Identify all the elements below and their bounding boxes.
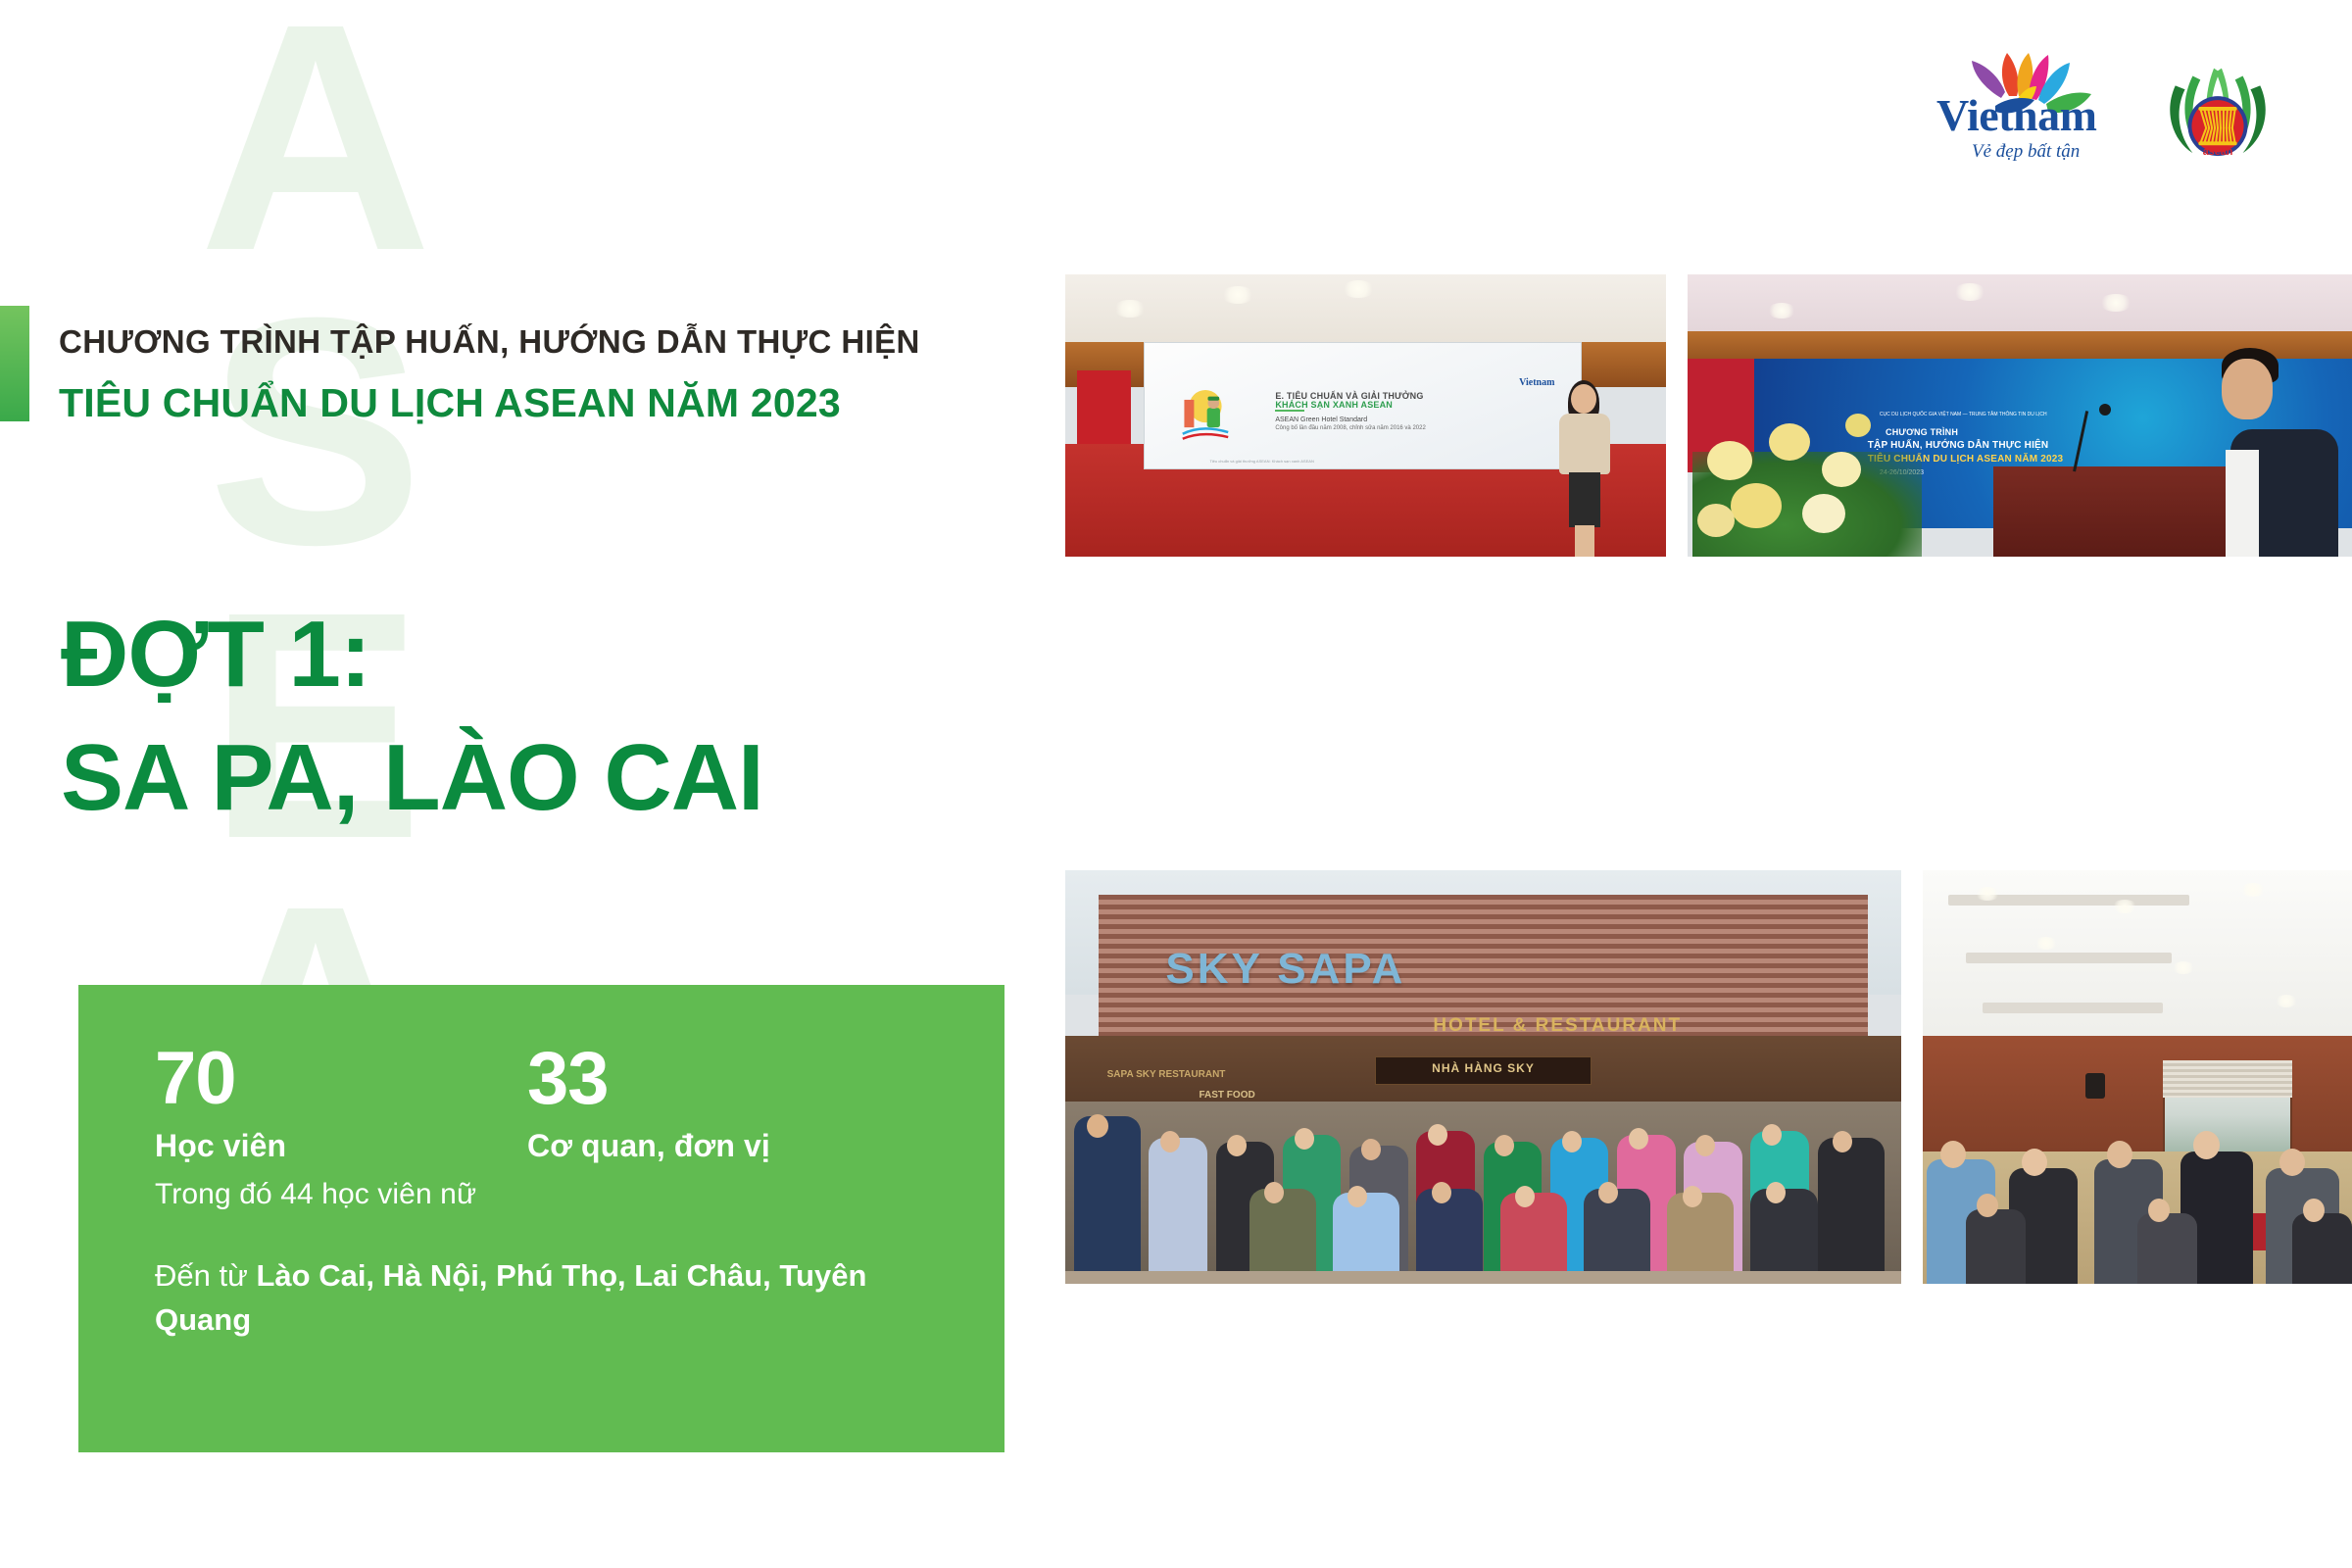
ceiling-vent bbox=[1966, 953, 2172, 963]
stat-organizations-number: 33 bbox=[527, 1044, 772, 1114]
ceiling-vent bbox=[1983, 1003, 2163, 1013]
female-presenter bbox=[1557, 384, 1618, 548]
person-head bbox=[1515, 1186, 1535, 1207]
window-sign-fastfood: FAST FOOD bbox=[1199, 1090, 1254, 1101]
ceiling-light bbox=[1113, 300, 1147, 318]
ceiling-light bbox=[1767, 303, 1796, 318]
person-head bbox=[1562, 1131, 1582, 1152]
ceiling-light bbox=[2240, 883, 2266, 897]
restaurant-plaque-text: NHÀ HÀNG SKY bbox=[1376, 1057, 1592, 1080]
attendee-head bbox=[2148, 1199, 2170, 1222]
stat-origin-places: Lào Cai, Hà Nội, Phú Thọ, Lai Châu, Tuyê… bbox=[155, 1258, 866, 1337]
lily-bloom bbox=[1731, 483, 1782, 528]
asean-wordmark: asean bbox=[2203, 146, 2233, 158]
stat-participants: 70 Học viên bbox=[155, 1044, 400, 1164]
projection-screen: Vietnam E. TIÊU CHUẨN VÀ GIẢI THƯỞNG KHÁ… bbox=[1144, 342, 1582, 469]
slide-body-line-1: ASEAN Green Hotel Standard bbox=[1275, 416, 1367, 423]
ceiling-light bbox=[2275, 995, 2298, 1007]
stat-participants-label: Học viên bbox=[155, 1128, 400, 1164]
slide-vietnam-logo: Vietnam bbox=[1519, 377, 1554, 388]
person bbox=[1149, 1138, 1207, 1284]
hotel-sign-sub: HOTEL & RESTAURANT bbox=[1433, 1015, 1682, 1037]
ceiling-light bbox=[2172, 961, 2195, 974]
vietnam-wordmark: Vietnam bbox=[1936, 89, 2096, 141]
stat-origin-prefix: Đến từ bbox=[155, 1258, 256, 1293]
attendee-head bbox=[2279, 1149, 2305, 1176]
slide-rule bbox=[1275, 410, 1304, 412]
session-number: ĐỢT 1: bbox=[61, 608, 763, 702]
page-kicker: CHƯƠNG TRÌNH TẬP HUẤN, HƯỚNG DẪN THỰC HI… bbox=[59, 323, 1039, 361]
headline-block: CHƯƠNG TRÌNH TẬP HUẤN, HƯỚNG DẪN THỰC HI… bbox=[59, 323, 1039, 426]
attendee-head bbox=[2107, 1141, 2132, 1168]
attendee-head bbox=[1940, 1141, 1966, 1168]
session-location-title: ĐỢT 1: SA PA, LÀO CAI bbox=[61, 608, 763, 825]
person-front-row bbox=[1750, 1189, 1817, 1284]
speaker-head bbox=[2222, 359, 2273, 419]
hotel-sign-main: SKY SAPA bbox=[1165, 945, 1750, 994]
ceiling-light bbox=[1342, 280, 1375, 298]
person-head bbox=[1766, 1182, 1786, 1203]
ceiling-light bbox=[1975, 887, 2000, 901]
person-front-row bbox=[1416, 1189, 1483, 1284]
vietnam-tourism-logo: Vietnam Vẻ đẹp bất tận bbox=[1931, 47, 2127, 163]
group-of-participants bbox=[1065, 1102, 1901, 1284]
ceiling-light bbox=[1953, 283, 1986, 301]
slide-body-line-2: Công bố lần đầu năm 2008, chỉnh sửa năm … bbox=[1275, 425, 1425, 431]
ceiling-light bbox=[2034, 937, 2058, 950]
lily-bloom bbox=[1707, 441, 1752, 480]
ceiling-light bbox=[1221, 286, 1254, 304]
attendee-back-row bbox=[1966, 1209, 2026, 1284]
attendee-head bbox=[2022, 1149, 2047, 1176]
person-front-row bbox=[1249, 1189, 1316, 1284]
person bbox=[1818, 1138, 1885, 1284]
slide-subheading: KHÁCH SẠN XANH ASEAN bbox=[1275, 400, 1393, 410]
bud bbox=[1845, 414, 1871, 437]
person bbox=[1074, 1116, 1141, 1284]
lily-bloom bbox=[1822, 452, 1861, 487]
window-sign-restaurant: SAPA SKY RESTAURANT bbox=[1107, 1069, 1226, 1080]
attendee-head bbox=[2303, 1199, 2325, 1222]
session-location: SA PA, LÀO CAI bbox=[61, 731, 763, 825]
presenter-blazer bbox=[1559, 414, 1610, 474]
page-title: TIÊU CHUẨN DU LỊCH ASEAN NĂM 2023 bbox=[59, 380, 1039, 426]
person-front-row bbox=[1584, 1189, 1650, 1284]
photo-speaker-at-podium: CỤC DU LỊCH QUỐC GIA VIỆT NAM — TRUNG TÂ… bbox=[1688, 274, 2352, 557]
poster-canvas: A S E A N Vietnam Vẻ đẹp bất tận bbox=[0, 0, 2352, 1568]
person-head bbox=[1361, 1139, 1381, 1160]
window-blinds bbox=[2163, 1060, 2291, 1098]
photo-2-content: CỤC DU LỊCH QUỐC GIA VIỆT NAM — TRUNG TÂ… bbox=[1688, 274, 2352, 557]
photo-3-content: SKY SAPA HOTEL & RESTAURANT NHÀ HÀNG SKY… bbox=[1065, 870, 1901, 1284]
stat-participants-number: 70 bbox=[155, 1044, 400, 1114]
rose-bloom bbox=[1802, 494, 1845, 533]
ceiling-light bbox=[2112, 900, 2137, 913]
photo-speaker-presentation: Vietnam E. TIÊU CHUẨN VÀ GIẢI THƯỞNG KHÁ… bbox=[1065, 274, 1666, 557]
presenter-skirt bbox=[1569, 472, 1600, 527]
stat-organizations-label: Cơ quan, đơn vị bbox=[527, 1128, 772, 1164]
wall-speaker bbox=[2085, 1073, 2105, 1099]
photo-4-content bbox=[1923, 870, 2352, 1284]
logo-group: Vietnam Vẻ đẹp bất tận bbox=[1931, 47, 2276, 163]
stat-female-note: Trong đó 44 học viên nữ bbox=[155, 1178, 946, 1211]
flower-arrangement bbox=[1688, 381, 1927, 557]
attendee-back-row bbox=[2292, 1213, 2352, 1284]
restaurant-plaque: NHÀ HÀNG SKY bbox=[1375, 1056, 1592, 1086]
title-accent-bar bbox=[0, 306, 29, 421]
slide-footer: Tiêu chuẩn và giải thưởng ASEAN: Khách s… bbox=[1210, 459, 1314, 464]
rose-bloom bbox=[1697, 504, 1735, 537]
paved-ground bbox=[1065, 1271, 1901, 1284]
person-head bbox=[1432, 1182, 1451, 1203]
photo-seated-audience bbox=[1923, 870, 2352, 1284]
presenter-legs bbox=[1575, 525, 1594, 557]
asean-emblem-icon: asean bbox=[2160, 47, 2276, 163]
person-head bbox=[1428, 1124, 1447, 1146]
photo-1-content: Vietnam E. TIÊU CHUẨN VÀ GIẢI THƯỞNG KHÁ… bbox=[1065, 274, 1666, 557]
slide-illustration bbox=[1157, 385, 1253, 450]
statistics-panel: 70 Học viên 33 Cơ quan, đơn vị Trong đó … bbox=[78, 985, 1004, 1452]
photo-sky-sapa-group: SKY SAPA HOTEL & RESTAURANT NHÀ HÀNG SKY… bbox=[1065, 870, 1901, 1284]
stat-organizations: 33 Cơ quan, đơn vị bbox=[527, 1044, 772, 1164]
speaker-shirt bbox=[2226, 450, 2259, 557]
statistics-row: 70 Học viên 33 Cơ quan, đơn vị bbox=[155, 1044, 946, 1164]
person-head bbox=[1629, 1128, 1648, 1150]
person-head bbox=[1295, 1128, 1314, 1150]
person-head bbox=[1683, 1186, 1702, 1207]
vietnam-tagline: Vẻ đẹp bất tận bbox=[1972, 141, 2080, 163]
attendee-back-row bbox=[2137, 1213, 2197, 1284]
watermark-letter-a1: A bbox=[127, 0, 500, 284]
stat-origin-line: Đến từ Lào Cai, Hà Nội, Phú Thọ, Lai Châ… bbox=[155, 1254, 946, 1343]
